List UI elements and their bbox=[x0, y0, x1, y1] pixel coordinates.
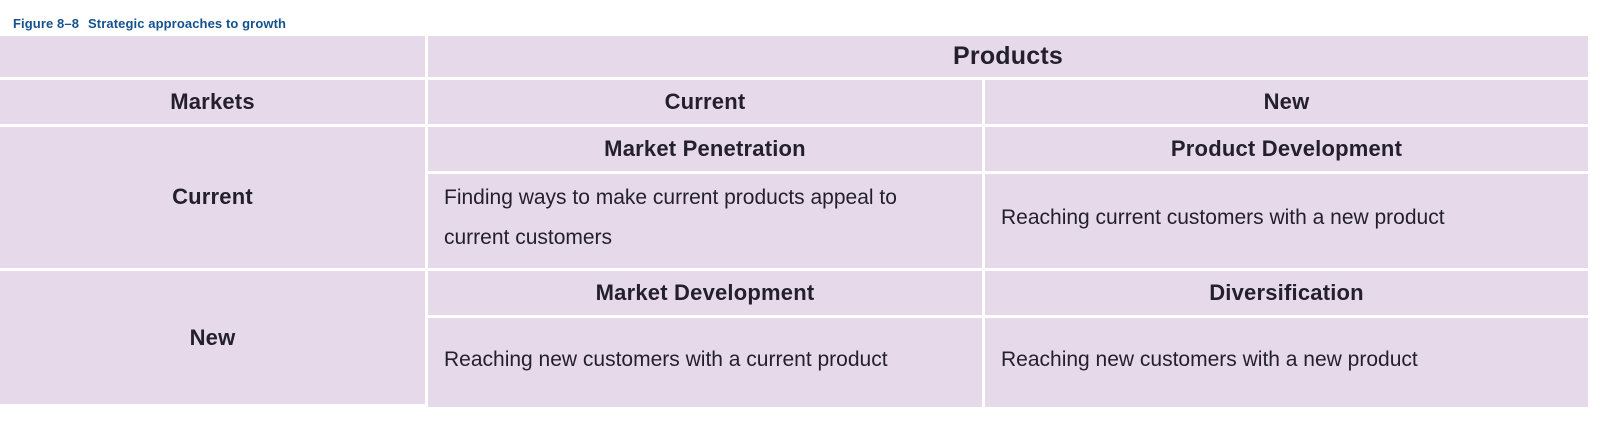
figure-caption: Figure 8–8Strategic approaches to growth bbox=[13, 16, 286, 31]
quadrant-title-market-penetration: Market Penetration bbox=[428, 127, 985, 174]
quadrant-title-diversification: Diversification bbox=[985, 271, 1588, 318]
ansoff-matrix-container: Products Markets Current New Current Mar… bbox=[0, 36, 1588, 407]
figure-number: Figure 8–8 bbox=[13, 16, 79, 31]
quadrant-description-diversification: Reaching new customers with a new produc… bbox=[985, 318, 1588, 407]
quadrant-description-product-development: Reaching current customers with a new pr… bbox=[985, 174, 1588, 271]
figure-page: Figure 8–8Strategic approaches to growth… bbox=[0, 0, 1612, 435]
markets-axis-header: Markets bbox=[0, 80, 428, 126]
figure-title: Strategic approaches to growth bbox=[88, 16, 286, 31]
row-label-new: New bbox=[0, 271, 428, 407]
quadrant-title-product-development: Product Development bbox=[985, 127, 1588, 174]
corner-blank-cell bbox=[0, 36, 428, 80]
quadrant-title-market-development: Market Development bbox=[428, 271, 985, 318]
products-axis-header: Products bbox=[428, 36, 1588, 80]
quadrant-description-market-penetration: Finding ways to make current products ap… bbox=[428, 174, 985, 271]
table-row-banner: Products bbox=[0, 36, 1588, 80]
row-label-current: Current bbox=[0, 127, 428, 272]
table-row-current-titles: Current Market Penetration Product Devel… bbox=[0, 127, 1588, 174]
table-row-new-titles: New Market Development Diversification bbox=[0, 271, 1588, 318]
column-header-current: Current bbox=[428, 80, 985, 126]
ansoff-matrix-table: Products Markets Current New Current Mar… bbox=[0, 36, 1588, 407]
column-header-new: New bbox=[985, 80, 1588, 126]
quadrant-description-market-development: Reaching new customers with a current pr… bbox=[428, 318, 985, 407]
table-row-column-headers: Markets Current New bbox=[0, 80, 1588, 126]
